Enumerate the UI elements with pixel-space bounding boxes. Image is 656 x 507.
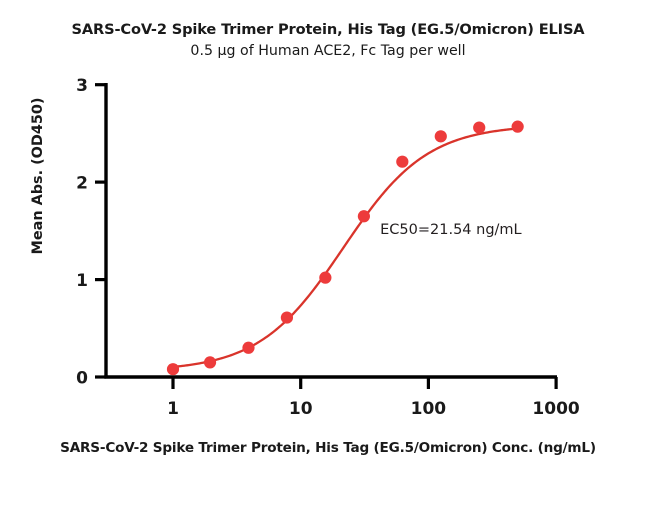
ec50-annotation: EC50=21.54 ng/mL [380,222,522,238]
plot-area: 3 2 1 0 1 10 100 1000 EC50=21.54 ng/mL M… [0,0,656,507]
data-point [512,121,524,133]
fit-curve [173,129,518,367]
data-point [396,156,408,168]
y-tick-label-3: 3 [76,76,88,96]
x-tick-label-1: 1 [167,399,179,419]
y-tick-label-0: 0 [76,369,88,389]
x-tick-label-1000: 1000 [532,399,579,419]
plot-svg: 3 2 1 0 1 10 100 1000 EC50=21.54 ng/mL [0,0,656,507]
y-tick-label-1: 1 [76,271,88,291]
data-point [204,356,216,368]
data-point [319,272,331,284]
data-point [473,122,485,134]
y-tick-label-2: 2 [76,174,88,194]
data-point [167,363,179,375]
data-point [358,210,370,222]
x-tick-label-10: 10 [289,399,313,419]
data-point [281,311,293,323]
elisa-figure: SARS-CoV-2 Spike Trimer Protein, His Tag… [0,0,656,507]
y-axis-label: Mean Abs. (OD450) [30,76,46,276]
x-tick-label-100: 100 [411,399,447,419]
data-point [435,130,447,142]
x-axis-label: SARS-CoV-2 Spike Trimer Protein, His Tag… [0,440,656,456]
data-point [242,342,254,354]
data-point-group [167,121,524,376]
